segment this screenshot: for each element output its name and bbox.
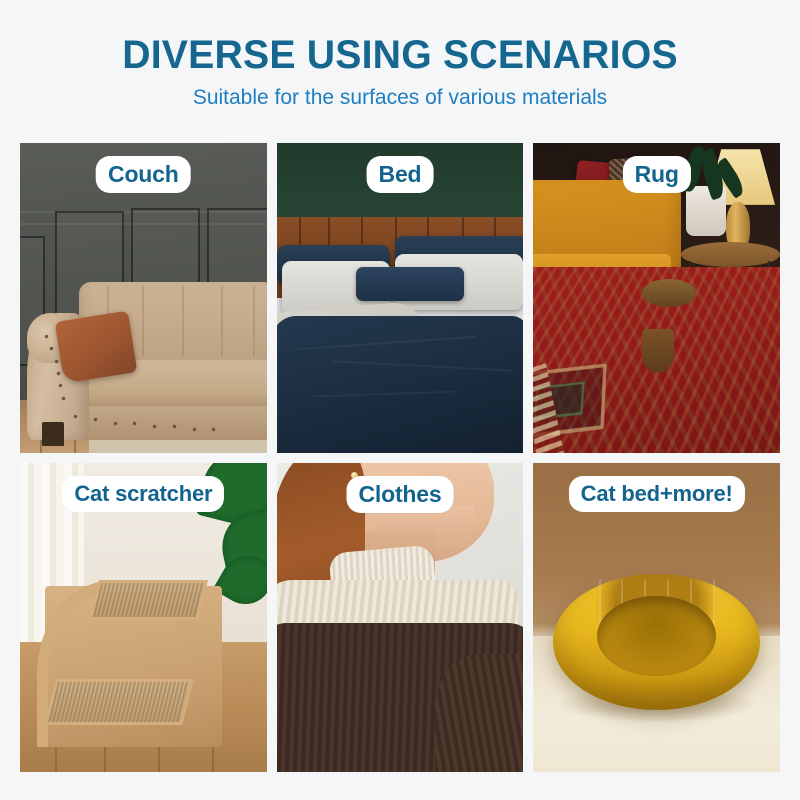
cat-scratcher-photo bbox=[20, 463, 267, 773]
tile-label-clothes: Clothes bbox=[350, 479, 451, 510]
accent-pillow bbox=[55, 311, 138, 384]
scenario-grid: Couch bbox=[20, 143, 780, 772]
scenario-tile-couch[interactable]: Couch bbox=[20, 143, 267, 453]
rug-jar bbox=[642, 329, 674, 372]
scratcher-pad-upper bbox=[89, 580, 208, 620]
bolster-pillow bbox=[356, 267, 465, 301]
scenario-tile-cat-bed[interactable]: Cat bed+more! bbox=[533, 463, 780, 773]
tile-label-rug: Rug bbox=[626, 159, 688, 190]
page-header: DIVERSE USING SCENARIOS Suitable for the… bbox=[0, 0, 800, 109]
rug-tray bbox=[642, 279, 696, 307]
tile-label-cat-scratcher: Cat scratcher bbox=[65, 479, 221, 509]
scenario-tile-clothes[interactable]: Clothes bbox=[277, 463, 524, 773]
sofa-leg bbox=[42, 422, 64, 447]
cat-bed-photo bbox=[533, 463, 780, 773]
tile-label-cat-bed: Cat bed+more! bbox=[572, 479, 742, 509]
navy-duvet bbox=[277, 316, 524, 452]
tile-label-bed: Bed bbox=[370, 159, 431, 190]
earring bbox=[351, 472, 358, 479]
scenario-tile-cat-scratcher[interactable]: Cat scratcher bbox=[20, 463, 267, 773]
cat-bed-opening bbox=[597, 596, 715, 676]
scratcher-pad-lower bbox=[44, 679, 194, 725]
tile-label-couch: Couch bbox=[99, 159, 188, 190]
page-subtitle: Suitable for the surfaces of various mat… bbox=[0, 86, 800, 109]
scenario-tile-rug[interactable]: Rug bbox=[533, 143, 780, 453]
scenario-tile-bed[interactable]: Bed bbox=[277, 143, 524, 453]
page-title: DIVERSE USING SCENARIOS bbox=[8, 34, 792, 76]
sofa-base bbox=[59, 406, 266, 440]
sweater-sleeve bbox=[435, 654, 524, 772]
